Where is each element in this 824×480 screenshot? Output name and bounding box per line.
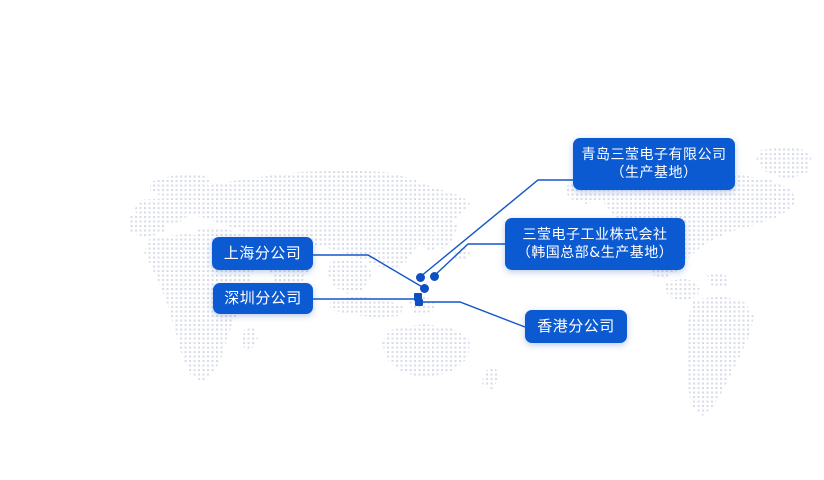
world-map-dots [0,0,824,480]
label-shenzhen[interactable]: 深圳分公司 [213,283,313,314]
label-korea-hq-line1: 三莹电子工业株式会社 [523,226,668,244]
label-shanghai-line1: 上海分公司 [224,244,302,264]
label-shenzhen-line1: 深圳分公司 [224,289,302,309]
label-korea-hq-line2: （韩国总部&生产基地） [517,244,673,262]
label-hongkong-line1: 香港分公司 [537,317,615,337]
node-marker-hongkong[interactable] [415,299,423,306]
label-korea-hq[interactable]: 三莹电子工业株式会社 （韩国总部&生产基地） [505,218,685,270]
label-qingdao[interactable]: 青岛三莹电子有限公司 （生产基地） [573,138,735,190]
node-marker-shanghai[interactable] [420,284,429,293]
node-marker-korea[interactable] [430,272,439,281]
node-marker-qingdao[interactable] [416,273,425,282]
label-qingdao-line2: （生产基地） [611,164,698,182]
map-canvas: 青岛三莹电子有限公司 （生产基地） 三莹电子工业株式会社 （韩国总部&生产基地）… [0,0,824,480]
label-shanghai[interactable]: 上海分公司 [212,237,313,270]
label-hongkong[interactable]: 香港分公司 [525,310,627,343]
label-qingdao-line1: 青岛三莹电子有限公司 [582,146,727,164]
